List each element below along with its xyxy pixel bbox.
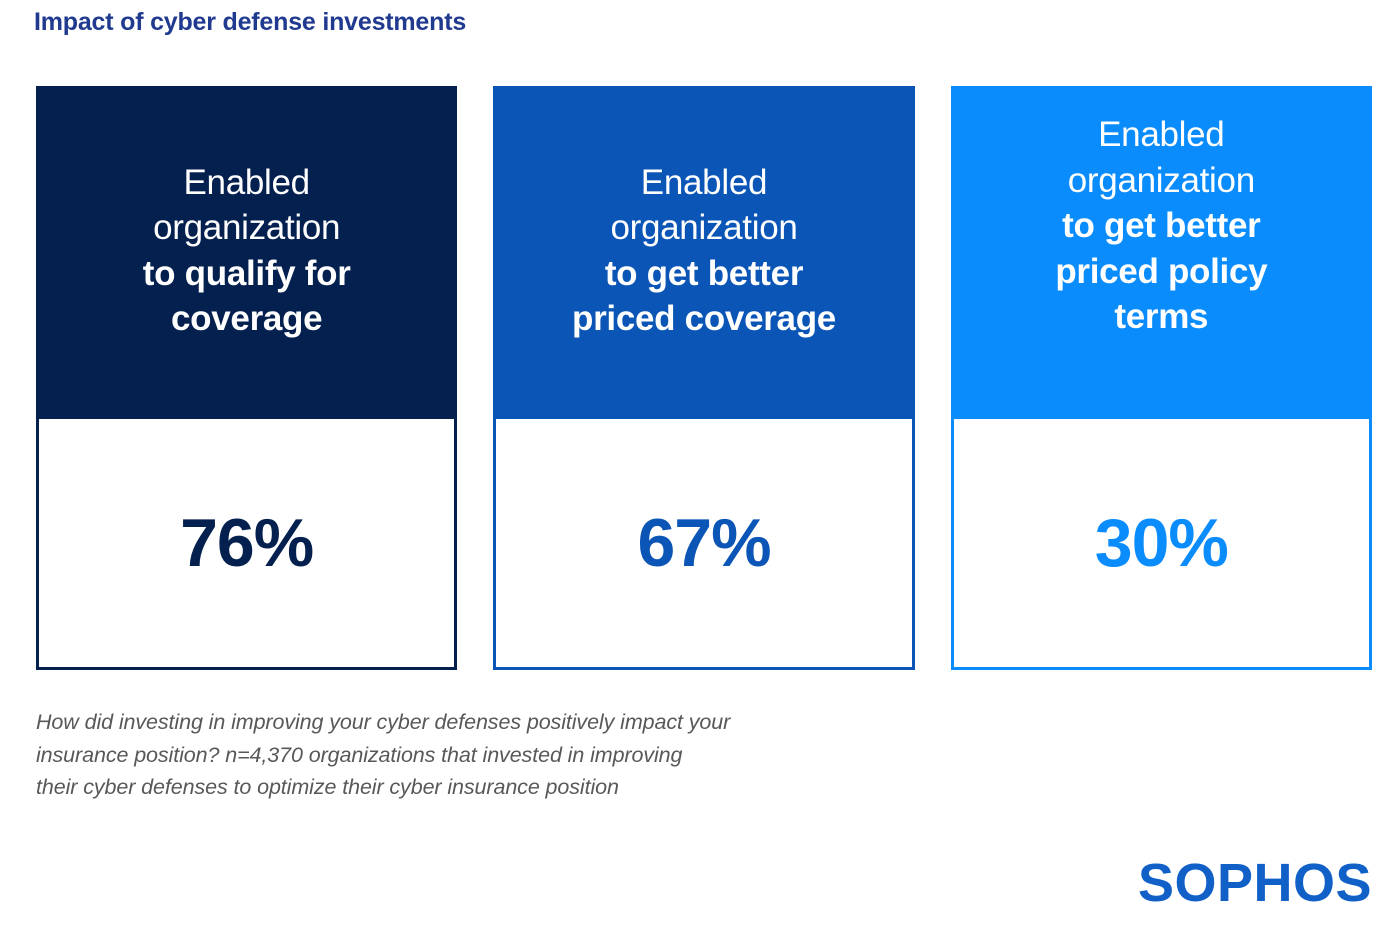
footnote-line: insurance position? n=4,370 organization… xyxy=(36,739,1096,772)
stat-card-better-priced-policy-terms: Enabled organization to get better price… xyxy=(951,86,1372,670)
stat-card-row: Enabled organization to qualify for cove… xyxy=(36,86,1372,670)
footnote-line: How did investing in improving your cybe… xyxy=(36,706,1096,739)
footnote-line: their cyber defenses to optimize their c… xyxy=(36,771,1096,804)
label-line: Enabled xyxy=(143,160,351,206)
stat-card-label-3: Enabled organization to get better price… xyxy=(1055,112,1267,340)
sophos-logo: SOPHOS xyxy=(1138,856,1372,910)
stat-value-2: 67% xyxy=(637,509,770,577)
label-line: organization xyxy=(1055,158,1267,204)
stat-card-value-box-3: 30% xyxy=(951,419,1372,670)
stat-card-label-2: Enabled organization to get better price… xyxy=(572,160,836,342)
stat-card-better-priced-coverage: Enabled organization to get better price… xyxy=(493,86,914,670)
stat-card-header-1: Enabled organization to qualify for cove… xyxy=(36,86,457,419)
label-line: priced coverage xyxy=(572,296,836,342)
label-line: Enabled xyxy=(572,160,836,206)
stat-card-value-box-1: 76% xyxy=(36,419,457,670)
infographic-page: Impact of cyber defense investments Enab… xyxy=(0,0,1390,949)
stat-card-value-box-2: 67% xyxy=(493,419,914,670)
label-line: priced policy xyxy=(1055,249,1267,295)
stat-value-1: 76% xyxy=(180,509,313,577)
label-line: terms xyxy=(1055,294,1267,340)
stat-value-3: 30% xyxy=(1095,509,1228,577)
label-line: to get better xyxy=(1055,203,1267,249)
label-line: organization xyxy=(143,205,351,251)
label-line: coverage xyxy=(143,296,351,342)
label-line: to get better xyxy=(572,251,836,297)
page-title: Impact of cyber defense investments xyxy=(34,8,466,37)
label-line: Enabled xyxy=(1055,112,1267,158)
stat-card-label-1: Enabled organization to qualify for cove… xyxy=(143,160,351,342)
label-line: organization xyxy=(572,205,836,251)
stat-card-header-3: Enabled organization to get better price… xyxy=(951,86,1372,419)
stat-card-qualify-for-coverage: Enabled organization to qualify for cove… xyxy=(36,86,457,670)
stat-card-header-2: Enabled organization to get better price… xyxy=(493,86,914,419)
label-line: to qualify for xyxy=(143,251,351,297)
footnote-question: How did investing in improving your cybe… xyxy=(36,706,1096,804)
